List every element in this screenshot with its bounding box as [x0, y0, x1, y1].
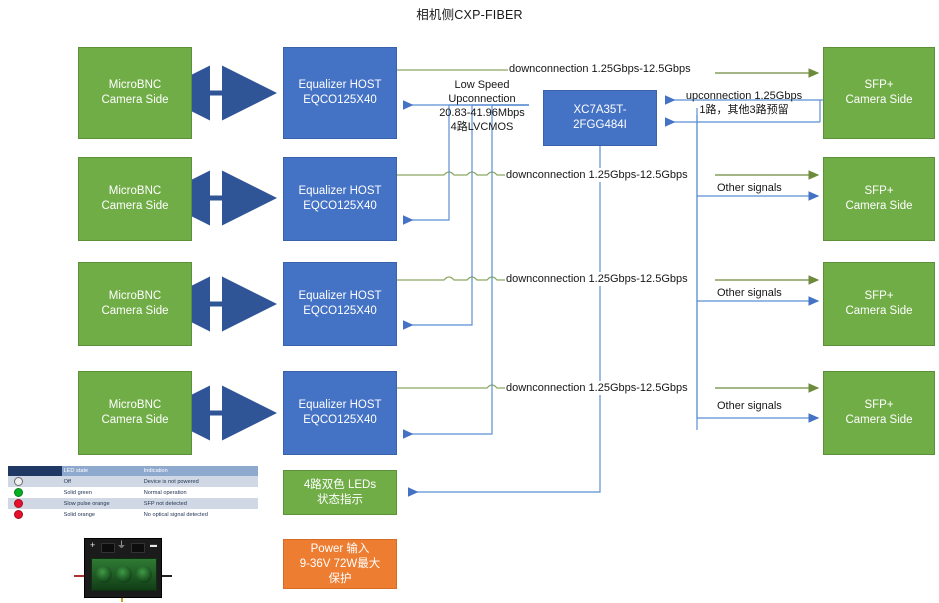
table-row: Off Device is not powered	[8, 476, 258, 487]
power-line1: Power 输入	[311, 542, 370, 557]
label-downconnection-4: downconnection 1.25Gbps-12.5Gbps	[505, 381, 689, 395]
block-sfp-2[interactable]: SFP+ Camera Side	[823, 157, 935, 241]
equalizer-line1: Equalizer HOST	[298, 289, 381, 304]
label-downconnection-1: downconnection 1.25Gbps-12.5Gbps	[508, 62, 692, 76]
block-fpga[interactable]: XC7A35T- 2FGG484I	[543, 90, 657, 146]
sfp-line2: Camera Side	[845, 199, 912, 214]
equalizer-line2: EQCO125X40	[303, 413, 377, 428]
minus-icon: ▬	[150, 542, 157, 549]
microbnc-line2: Camera Side	[101, 93, 168, 108]
led-state-value: Off	[62, 476, 142, 487]
sfp-line2: Camera Side	[845, 304, 912, 319]
equalizer-line1: Equalizer HOST	[298, 398, 381, 413]
microbnc-line2: Camera Side	[101, 304, 168, 319]
leds-line1: 4路双色 LEDs	[304, 478, 376, 493]
microbnc-line1: MicroBNC	[109, 289, 161, 304]
led-indication-value: Device is not powered	[142, 476, 258, 487]
led-state-table: LED state Indication Off Device is not p…	[8, 466, 258, 520]
sfp-line1: SFP+	[864, 78, 893, 93]
led-state-value: Solid orange	[62, 509, 142, 520]
terminal-block-body	[91, 558, 157, 591]
block-sfp-4[interactable]: SFP+ Camera Side	[823, 371, 935, 455]
terminal-hole	[96, 566, 112, 583]
power-line2: 9-36V 72W最大	[300, 557, 381, 572]
screw-icon	[131, 543, 145, 553]
table-row: Slow pulse orange SFP not detected	[8, 498, 258, 509]
block-equalizer-1[interactable]: Equalizer HOST EQCO125X40	[283, 47, 397, 139]
microbnc-line2: Camera Side	[101, 413, 168, 428]
ground-icon: ⏚	[117, 541, 126, 550]
microbnc-line1: MicroBNC	[109, 398, 161, 413]
led-dot-cell	[8, 498, 62, 509]
fpga-line1: XC7A35T-	[573, 103, 626, 118]
equalizer-line2: EQCO125X40	[303, 199, 377, 214]
led-table-header-state: LED state	[62, 466, 142, 476]
lowspeed-line2: Upconnection	[448, 93, 515, 105]
block-equalizer-3[interactable]: Equalizer HOST EQCO125X40	[283, 262, 397, 346]
sfp-line2: Camera Side	[845, 93, 912, 108]
upconnection-line1: upconnection 1.25Gbps	[686, 90, 802, 102]
led-dot-cell	[8, 509, 62, 520]
power-connector-image: + ⏚ ▬	[84, 538, 162, 598]
terminal-hole	[116, 566, 132, 583]
label-downconnection-2: downconnection 1.25Gbps-12.5Gbps	[505, 168, 689, 182]
screw-icon	[101, 543, 115, 553]
lowspeed-line4: 4路LVCMOS	[451, 121, 514, 133]
led-slow-pulse-orange-icon	[14, 499, 23, 508]
microbnc-line2: Camera Side	[101, 199, 168, 214]
led-indication-value: Normal operation	[142, 487, 258, 498]
lowspeed-line3: 20.83-41.96Mbps	[439, 107, 525, 119]
block-equalizer-2[interactable]: Equalizer HOST EQCO125X40	[283, 157, 397, 241]
led-off-icon	[14, 477, 23, 486]
block-microbnc-3[interactable]: MicroBNC Camera Side	[78, 262, 192, 346]
sfp-line1: SFP+	[864, 398, 893, 413]
label-low-speed-upconnection: Low Speed Upconnection 20.83-41.96Mbps 4…	[428, 78, 536, 134]
sfp-line1: SFP+	[864, 289, 893, 304]
table-row: Solid green Normal operation	[8, 487, 258, 498]
led-state-value: Slow pulse orange	[62, 498, 142, 509]
diagram-canvas: 相机侧CXP-FIBER	[0, 0, 939, 603]
label-other-signals-2: Other signals	[716, 286, 783, 300]
led-indication-value: SFP not detected	[142, 498, 258, 509]
led-indication-value: No optical signal detected	[142, 509, 258, 520]
fpga-line2: 2FGG484I	[573, 118, 627, 133]
block-sfp-3[interactable]: SFP+ Camera Side	[823, 262, 935, 346]
terminal-hole	[136, 566, 152, 583]
lowspeed-line1: Low Speed	[454, 79, 509, 91]
block-microbnc-2[interactable]: MicroBNC Camera Side	[78, 157, 192, 241]
microbnc-line1: MicroBNC	[109, 78, 161, 93]
upconnection-line2: 1路，其他3路预留	[699, 104, 788, 116]
table-row: Solid orange No optical signal detected	[8, 509, 258, 520]
sfp-line1: SFP+	[864, 184, 893, 199]
led-table-header-blank	[8, 466, 62, 476]
led-dot-cell	[8, 487, 62, 498]
block-equalizer-4[interactable]: Equalizer HOST EQCO125X40	[283, 371, 397, 455]
led-solid-orange-icon	[14, 510, 23, 519]
led-table-header-indication: Indication	[142, 466, 258, 476]
power-line3: 保护	[329, 572, 352, 587]
block-microbnc-4[interactable]: MicroBNC Camera Side	[78, 371, 192, 455]
led-table-header-row: LED state Indication	[8, 466, 258, 476]
label-other-signals-3: Other signals	[716, 399, 783, 413]
sfp-line2: Camera Side	[845, 413, 912, 428]
block-sfp-1[interactable]: SFP+ Camera Side	[823, 47, 935, 139]
label-downconnection-3: downconnection 1.25Gbps-12.5Gbps	[505, 272, 689, 286]
plus-icon: +	[90, 541, 95, 550]
block-microbnc-1[interactable]: MicroBNC Camera Side	[78, 47, 192, 139]
equalizer-line1: Equalizer HOST	[298, 184, 381, 199]
led-dot-cell	[8, 476, 62, 487]
block-power[interactable]: Power 输入 9-36V 72W最大 保护	[283, 539, 397, 589]
label-other-signals-1: Other signals	[716, 181, 783, 195]
led-state-value: Solid green	[62, 487, 142, 498]
leds-line2: 状态指示	[317, 493, 363, 508]
led-solid-green-icon	[14, 488, 23, 497]
microbnc-line1: MicroBNC	[109, 184, 161, 199]
label-upconnection: upconnection 1.25Gbps 1路，其他3路预留	[668, 89, 820, 117]
equalizer-line1: Equalizer HOST	[298, 78, 381, 93]
block-leds[interactable]: 4路双色 LEDs 状态指示	[283, 470, 397, 515]
equalizer-line2: EQCO125X40	[303, 93, 377, 108]
equalizer-line2: EQCO125X40	[303, 304, 377, 319]
